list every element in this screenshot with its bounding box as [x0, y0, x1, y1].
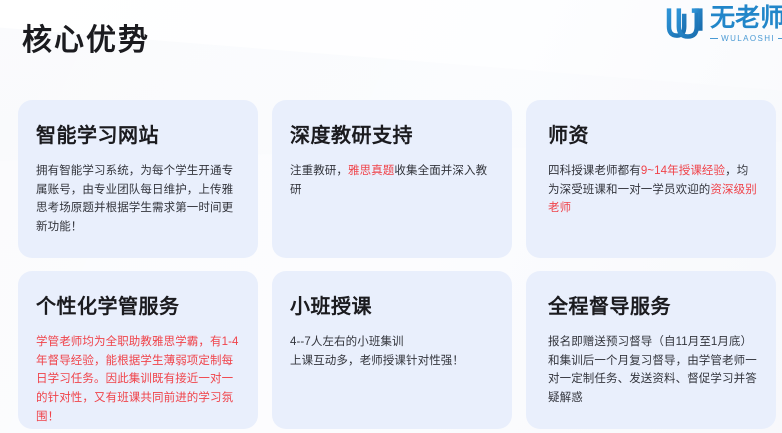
body-text: 报名即赠送预习督导（自11月至1月底）和集训后一个月复习督导，由学管老师一对一定… — [548, 336, 757, 404]
advantage-card-deep-research-support: 深度教研支持 注重教研，雅思真题收集全面并深入教研 — [272, 100, 512, 258]
logo-chinese-name: 无老师 — [710, 6, 782, 31]
highlighted-text: 雅思真题 — [348, 165, 394, 177]
card-title: 师资 — [548, 124, 758, 148]
card-title: 智能学习网站 — [36, 124, 240, 148]
body-text: 注重教研， — [290, 165, 348, 177]
card-body: 拥有智能学习系统，为每个学生开通专属账号，由专业团队每日维护，上传雅思考场原题并… — [36, 162, 240, 237]
card-body: 注重教研，雅思真题收集全面并深入教研 — [290, 162, 494, 199]
card-body: 四科授课老师都有9~14年授课经验，均为深受班课和一对一学员欢迎的资深级别老师 — [548, 162, 758, 218]
page-title: 核心优势 — [22, 24, 150, 57]
advantage-card-personalized-study-management: 个性化学管服务 学管老师均为全职助教雅思学霸，有1-4年督导经验，能根据学生薄弱… — [18, 271, 258, 429]
logo-english-name: WULAOSHI — [710, 35, 782, 43]
card-title: 小班授课 — [290, 295, 494, 319]
advantage-card-grid: 智能学习网站 拥有智能学习系统，为每个学生开通专属账号，由专业团队每日维护，上传… — [18, 100, 776, 429]
body-text: 拥有智能学习系统，为每个学生开通专属账号，由专业团队每日维护，上传雅思考场原题并… — [36, 165, 233, 233]
advantage-card-teaching-staff: 师资 四科授课老师都有9~14年授课经验，均为深受班课和一对一学员欢迎的资深级别… — [526, 100, 776, 258]
card-body: 学管老师均为全职助教雅思学霸，有1-4年督导经验，能根据学生薄弱项定制每日学习任… — [36, 333, 240, 426]
advantage-card-smart-learning-website: 智能学习网站 拥有智能学习系统，为每个学生开通专属账号，由专业团队每日维护，上传… — [18, 100, 258, 258]
advantage-card-small-class-teaching: 小班授课 4--7人左右的小班集训上课互动多，老师授课针对性强！ — [272, 271, 512, 429]
logo-dash-right — [778, 38, 782, 39]
body-text: 四科授课老师都有 — [548, 165, 641, 177]
card-title: 个性化学管服务 — [36, 295, 240, 319]
card-body: 4--7人左右的小班集训上课互动多，老师授课针对性强！ — [290, 333, 494, 370]
logo-english-label: WULAOSHI — [721, 35, 775, 43]
logo-text: 无老师 WULAOSHI — [710, 7, 782, 41]
card-title: 全程督导服务 — [548, 295, 758, 319]
wulaoshi-w-mark-icon — [666, 7, 706, 41]
body-text: 上课互动多，老师授课针对性强！ — [290, 355, 464, 367]
highlighted-text: 学管老师均为全职助教雅思学霸，有1-4年督导经验，能根据学生薄弱项定制每日学习任… — [36, 336, 239, 423]
brand-logo: 无老师 WULAOSHI — [666, 7, 782, 49]
logo-dash-left — [710, 38, 718, 39]
highlighted-text: 9~14年授课经验 — [641, 165, 725, 177]
card-body: 报名即赠送预习督导（自11月至1月底）和集训后一个月复习督导，由学管老师一对一定… — [548, 333, 758, 408]
body-text: 4--7人左右的小班集训 — [290, 336, 404, 348]
slide-root: 核心优势 无老师 WULAOSHI 智能学习网站 拥有智能学习 — [0, 0, 782, 433]
card-title: 深度教研支持 — [290, 124, 494, 148]
advantage-card-full-process-supervision: 全程督导服务 报名即赠送预习督导（自11月至1月底）和集训后一个月复习督导，由学… — [526, 271, 776, 429]
